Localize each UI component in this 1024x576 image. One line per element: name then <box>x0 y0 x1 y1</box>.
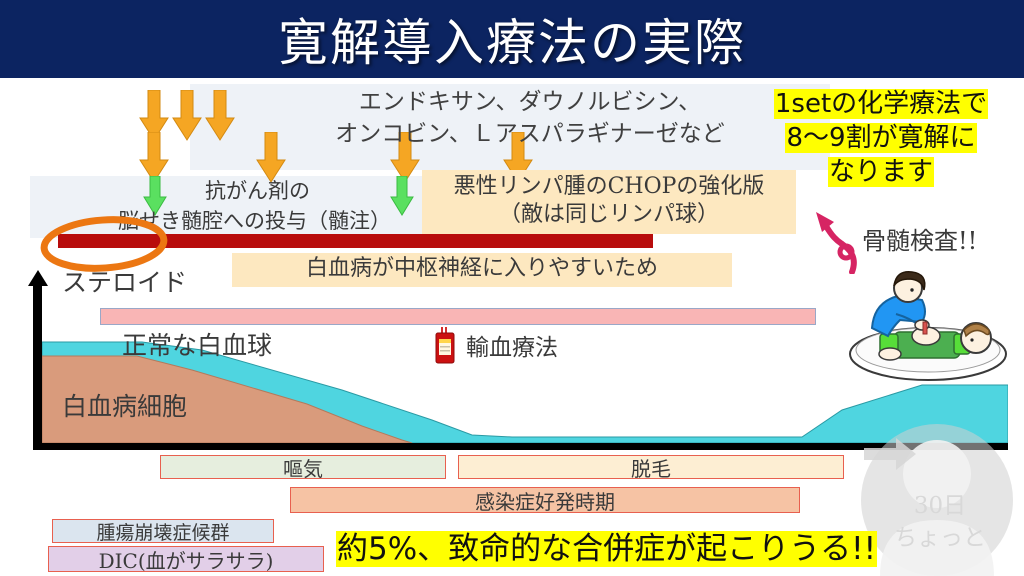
marrow-exam-label: 骨髄検査!! <box>862 226 977 256</box>
drug-list-line-2: オンコビン、Ｌアスパラギナーゼなど <box>285 120 775 149</box>
fatal-complication-highlight: 約5%、致命的な合併症が起こりうる!! <box>336 529 877 569</box>
chemo-arrow-2 <box>172 90 202 142</box>
fatal-complication-text: 約5%、致命的な合併症が起こりうる!! <box>336 531 877 567</box>
bar-dic: DIC(血がサラサラ) <box>48 546 324 572</box>
watermark-line-1: 30日 <box>900 486 980 520</box>
chop-callout-line-2: （敵は同じリンパ球） <box>432 201 786 229</box>
remission-highlight: 1setの化学療法で 8〜9割が寛解に なります <box>756 88 1006 189</box>
chop-callout: 悪性リンパ腫のCHOPの強化版 （敵は同じリンパ球） <box>422 170 796 234</box>
transfusion-bar <box>100 308 816 325</box>
chemo-arrow-3 <box>205 90 235 142</box>
bar-dic-label: DIC(血がサラサラ) <box>99 545 274 574</box>
cns-callout-line-1: 白血病が中枢神経に入りやすいため <box>242 255 722 283</box>
bar-nausea: 嘔気 <box>160 455 446 479</box>
transfusion-label: 輸血療法 <box>466 334 558 363</box>
bar-tls-label: 腫瘍崩壊症候群 <box>96 518 229 545</box>
bar-nausea-label: 嘔気 <box>283 453 323 482</box>
drug-list-line-1: エンドキサン、ダウノルビシン、 <box>300 88 760 117</box>
cns-callout: 白血病が中枢神経に入りやすいため <box>232 253 732 287</box>
remission-line-3: なります <box>828 157 934 187</box>
page-title: 寛解導入療法の実際 <box>0 0 1024 78</box>
bar-infection-label: 感染症好発時期 <box>475 486 615 515</box>
intrathecal-line-1: 抗がん剤の <box>205 178 310 204</box>
chemo-arrow-5 <box>256 132 286 184</box>
steroid-label: ステロイド <box>62 267 187 298</box>
chop-callout-line-1: 悪性リンパ腫のCHOPの強化版 <box>432 173 786 201</box>
bar-hair-loss-label: 脱毛 <box>631 453 671 482</box>
bar-infection: 感染症好発時期 <box>290 487 800 513</box>
blood-bag-icon <box>432 327 458 370</box>
slide-root: 寛解導入療法の実際 <box>0 0 1024 576</box>
y-axis <box>33 284 42 449</box>
remission-line-2: 8〜9割が寛解に <box>785 123 976 153</box>
normal-wbc-label: 正常な白血球 <box>122 330 272 361</box>
intrathecal-arrow-right <box>390 176 414 216</box>
bar-hair-loss: 脱毛 <box>458 455 844 479</box>
remission-line-1: 1setの化学療法で <box>774 89 988 119</box>
leukemia-cells-label: 白血病細胞 <box>62 391 187 422</box>
watermark-line-2: ちょっと <box>880 518 1000 552</box>
bar-tls: 腫瘍崩壊症候群 <box>52 519 274 543</box>
bone-marrow-procedure-illustration <box>836 270 1012 388</box>
